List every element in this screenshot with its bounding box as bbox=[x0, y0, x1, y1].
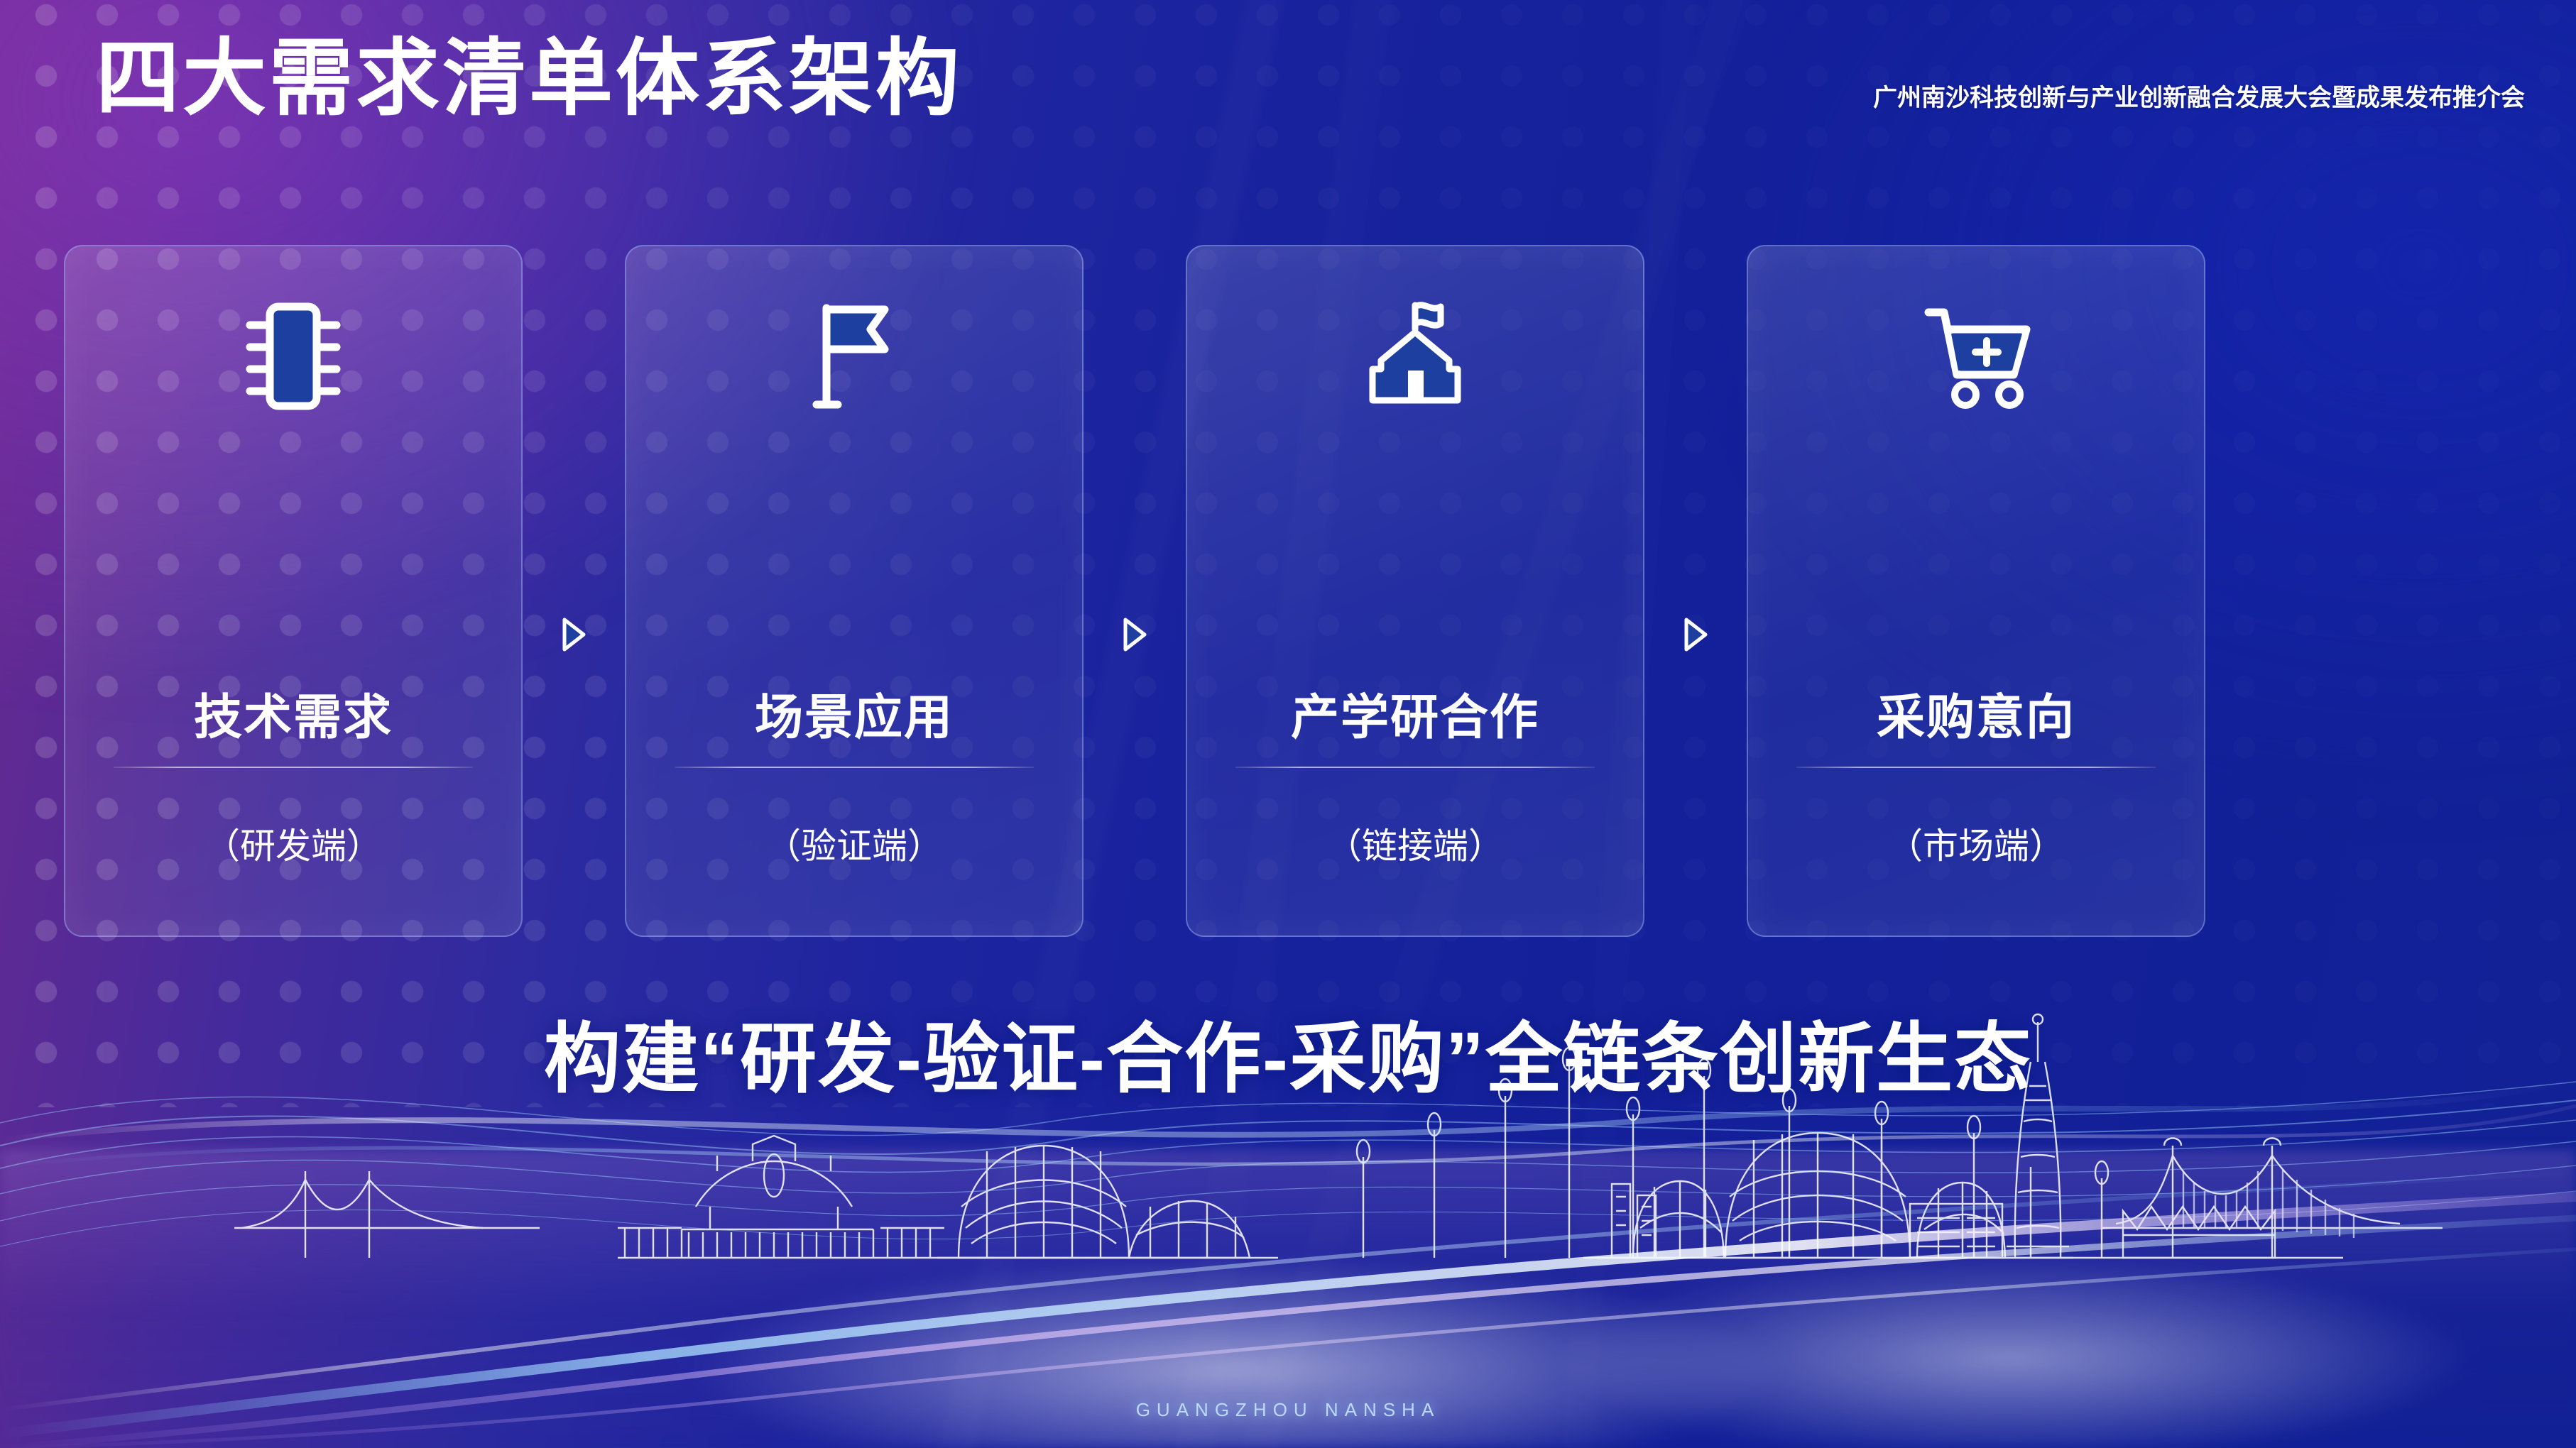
city-skyline-illustration: GUANGZHOU NANSHA bbox=[0, 994, 2576, 1448]
university-building-icon bbox=[1187, 289, 1643, 420]
event-name-label: 广州南沙科技创新与产业创新融合发展大会暨成果发布推介会 bbox=[1873, 78, 2525, 113]
card-subtitle: （市场端） bbox=[1748, 828, 2204, 864]
card-title: 采购意向 bbox=[1748, 693, 2204, 742]
card-procurement-intention[interactable]: 采购意向 （市场端） 以市场需求为导向，为成熟的创新成果提供产业化落地通道。 bbox=[1747, 245, 2205, 937]
card-row: 技术需求 （研发端） 企业提出攻关课题，寻求技术突破，确立创新源头。 bbox=[64, 245, 2521, 937]
slide-root: 四大需求清单体系架构 广州南沙科技创新与产业创新融合发展大会暨成果发布推介会 bbox=[0, 0, 2576, 1448]
card-content: 场景应用 （验证端） 开放真实场景，为前沿技术提供验证和应用的实战舞台。 bbox=[626, 246, 1082, 936]
light-streams bbox=[0, 994, 2576, 1448]
arrow-right-triangle-icon bbox=[1681, 616, 1710, 657]
card-content: 采购意向 （市场端） 以市场需求为导向，为成熟的创新成果提供产业化落地通道。 bbox=[1748, 246, 2204, 936]
card-content: 产学研合作 （链接端） 链接高校与科研院所，促进创新资源的深度整合与协同。 bbox=[1187, 246, 1643, 936]
page-title: 四大需求清单体系架构 bbox=[96, 37, 962, 121]
flag-icon bbox=[626, 289, 1082, 420]
separator-3 bbox=[1644, 245, 1747, 937]
header: 四大需求清单体系架构 广州南沙科技创新与产业创新融合发展大会暨成果发布推介会 bbox=[0, 0, 2576, 163]
card-divider bbox=[1796, 767, 2156, 768]
card-subtitle: （验证端） bbox=[626, 828, 1082, 864]
card-title: 技术需求 bbox=[65, 693, 521, 742]
watermark-label: GUANGZHOU NANSHA bbox=[0, 1399, 2576, 1421]
card-divider bbox=[675, 767, 1034, 768]
arrow-right-triangle-icon bbox=[560, 616, 588, 657]
card-divider bbox=[1235, 767, 1595, 768]
card-subtitle: （研发端） bbox=[65, 828, 521, 864]
card-content: 技术需求 （研发端） 企业提出攻关课题，寻求技术突破，确立创新源头。 bbox=[65, 246, 521, 936]
shopping-cart-plus-icon bbox=[1748, 289, 2204, 420]
card-title: 产学研合作 bbox=[1187, 693, 1643, 742]
card-divider bbox=[114, 767, 473, 768]
separator-1 bbox=[523, 245, 625, 937]
card-subtitle: （链接端） bbox=[1187, 828, 1643, 864]
microchip-icon bbox=[65, 289, 521, 420]
arrow-right-triangle-icon bbox=[1120, 616, 1149, 657]
separator-2 bbox=[1084, 245, 1186, 937]
card-title: 场景应用 bbox=[626, 693, 1082, 742]
card-industry-academia-research[interactable]: 产学研合作 （链接端） 链接高校与科研院所，促进创新资源的深度整合与协同。 bbox=[1186, 245, 1644, 937]
card-technology-demand[interactable]: 技术需求 （研发端） 企业提出攻关课题，寻求技术突破，确立创新源头。 bbox=[64, 245, 523, 937]
card-scenario-application[interactable]: 场景应用 （验证端） 开放真实场景，为前沿技术提供验证和应用的实战舞台。 bbox=[625, 245, 1084, 937]
